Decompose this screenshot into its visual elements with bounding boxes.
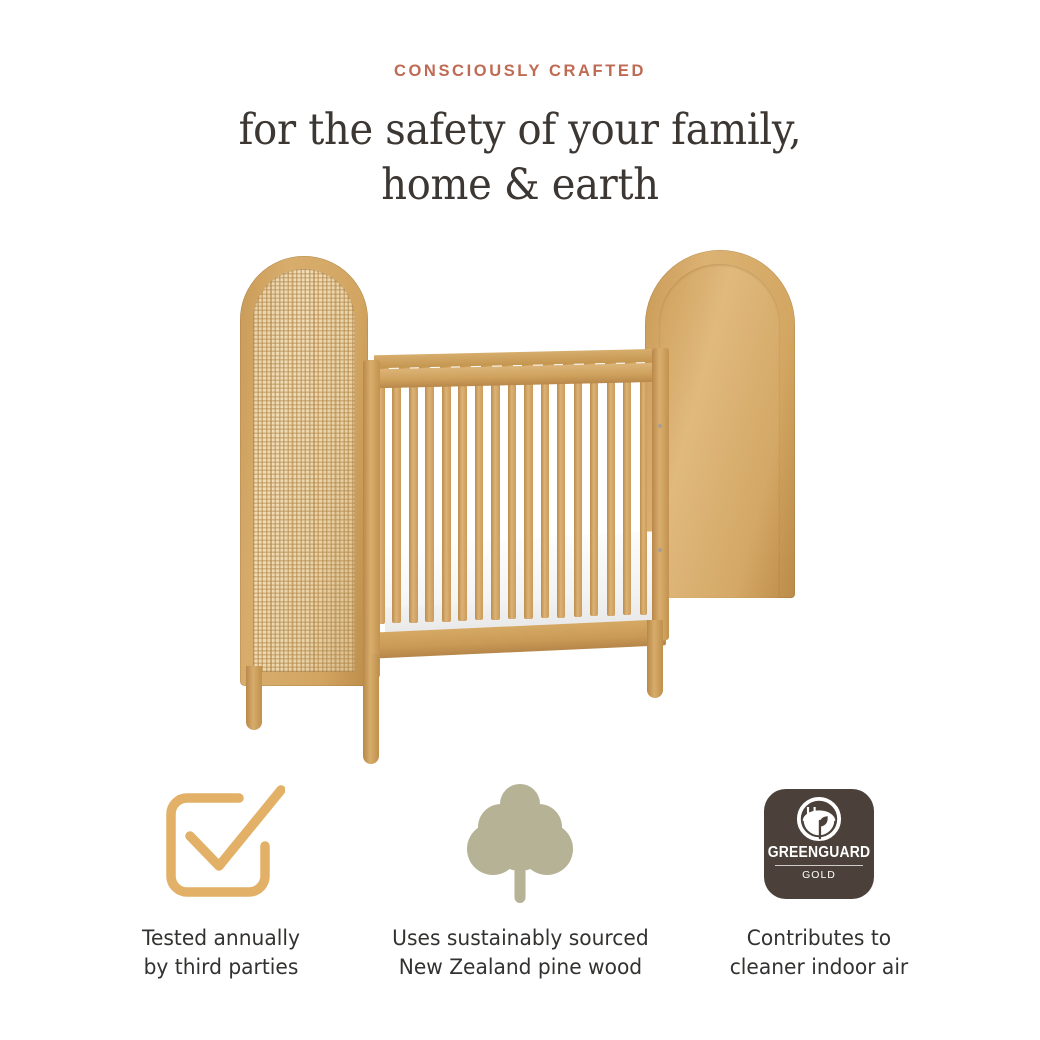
crib-slat [475,376,484,620]
crib-slat [640,380,648,615]
crib-slat [392,374,401,623]
feature-caption: Contributes to cleaner indoor air [730,924,909,982]
feature-item-tested: Tested annually by third parties [86,778,356,982]
feature-caption-line-1: Contributes to [730,924,909,953]
tree-icon [466,783,574,905]
feature-caption-line-2: cleaner indoor air [730,953,909,982]
crib-illustration [222,248,822,768]
hardware-screw [658,424,662,428]
cane-webbing [253,269,355,672]
crib-slat [557,378,565,618]
headline-line-2: home & earth [36,158,1003,213]
header: CONSCIOUSLY CRAFTED for the safety of yo… [0,0,1040,213]
crib-leg-back-left [246,666,262,730]
feature-icon-container [466,778,574,910]
crib-front-corner-post [363,360,380,678]
feature-item-greenguard: U L GREENGUARD GOLD Contributes to clean… [684,778,954,982]
crib-slat [508,377,516,619]
crib-slat [574,378,582,617]
svg-text:U: U [806,805,816,821]
feature-icon-container [157,778,285,910]
crib-back-corner-post [652,348,669,640]
feature-caption-line-2: by third parties [142,953,300,982]
crib-slat [409,375,418,623]
headboard-inset-panel [659,264,780,598]
feature-caption-line-1: Uses sustainably sourced [392,924,648,953]
product-image-crib [0,248,1040,768]
feature-item-sustainable-wood: Uses sustainably sourced New Zealand pin… [385,778,655,982]
greenguard-label: GREENGUARD [768,844,871,862]
crib-front-slats [370,374,666,650]
greenguard-tier-label: GOLD [802,869,836,881]
crib-leg-front-left [363,654,379,764]
crib-slat [458,376,467,621]
crib-slat [590,379,598,617]
feature-caption: Tested annually by third parties [142,924,300,982]
headline-line-1: for the safety of your family, [36,103,1003,158]
crib-slat [541,378,549,619]
crib-slat [623,379,631,615]
crib-cane-end-panel [240,256,368,686]
feature-caption-line-1: Tested annually [142,924,300,953]
ul-certification-mark-icon: U L [796,796,842,842]
crib-slat [491,376,499,619]
feature-icon-container: U L GREENGUARD GOLD [764,778,874,910]
badge-divider [775,865,863,866]
checkbox-check-icon [157,784,285,904]
crib-slat [425,375,434,622]
page-title: for the safety of your family, home & ea… [36,103,1003,213]
crib-slat [442,375,451,621]
hardware-screw [658,548,662,552]
crib-slat [607,379,615,616]
feature-list: Tested annually by third parties [0,778,1040,982]
crib-leg-back-right [647,620,663,698]
greenguard-gold-badge-icon: U L GREENGUARD GOLD [764,789,874,899]
crib-slat [524,377,532,619]
feature-caption: Uses sustainably sourced New Zealand pin… [392,924,648,982]
eyebrow-text: CONSCIOUSLY CRAFTED [0,62,1040,81]
marketing-banner: CONSCIOUSLY CRAFTED for the safety of yo… [0,0,1040,1040]
feature-caption-line-2: New Zealand pine wood [392,953,648,982]
